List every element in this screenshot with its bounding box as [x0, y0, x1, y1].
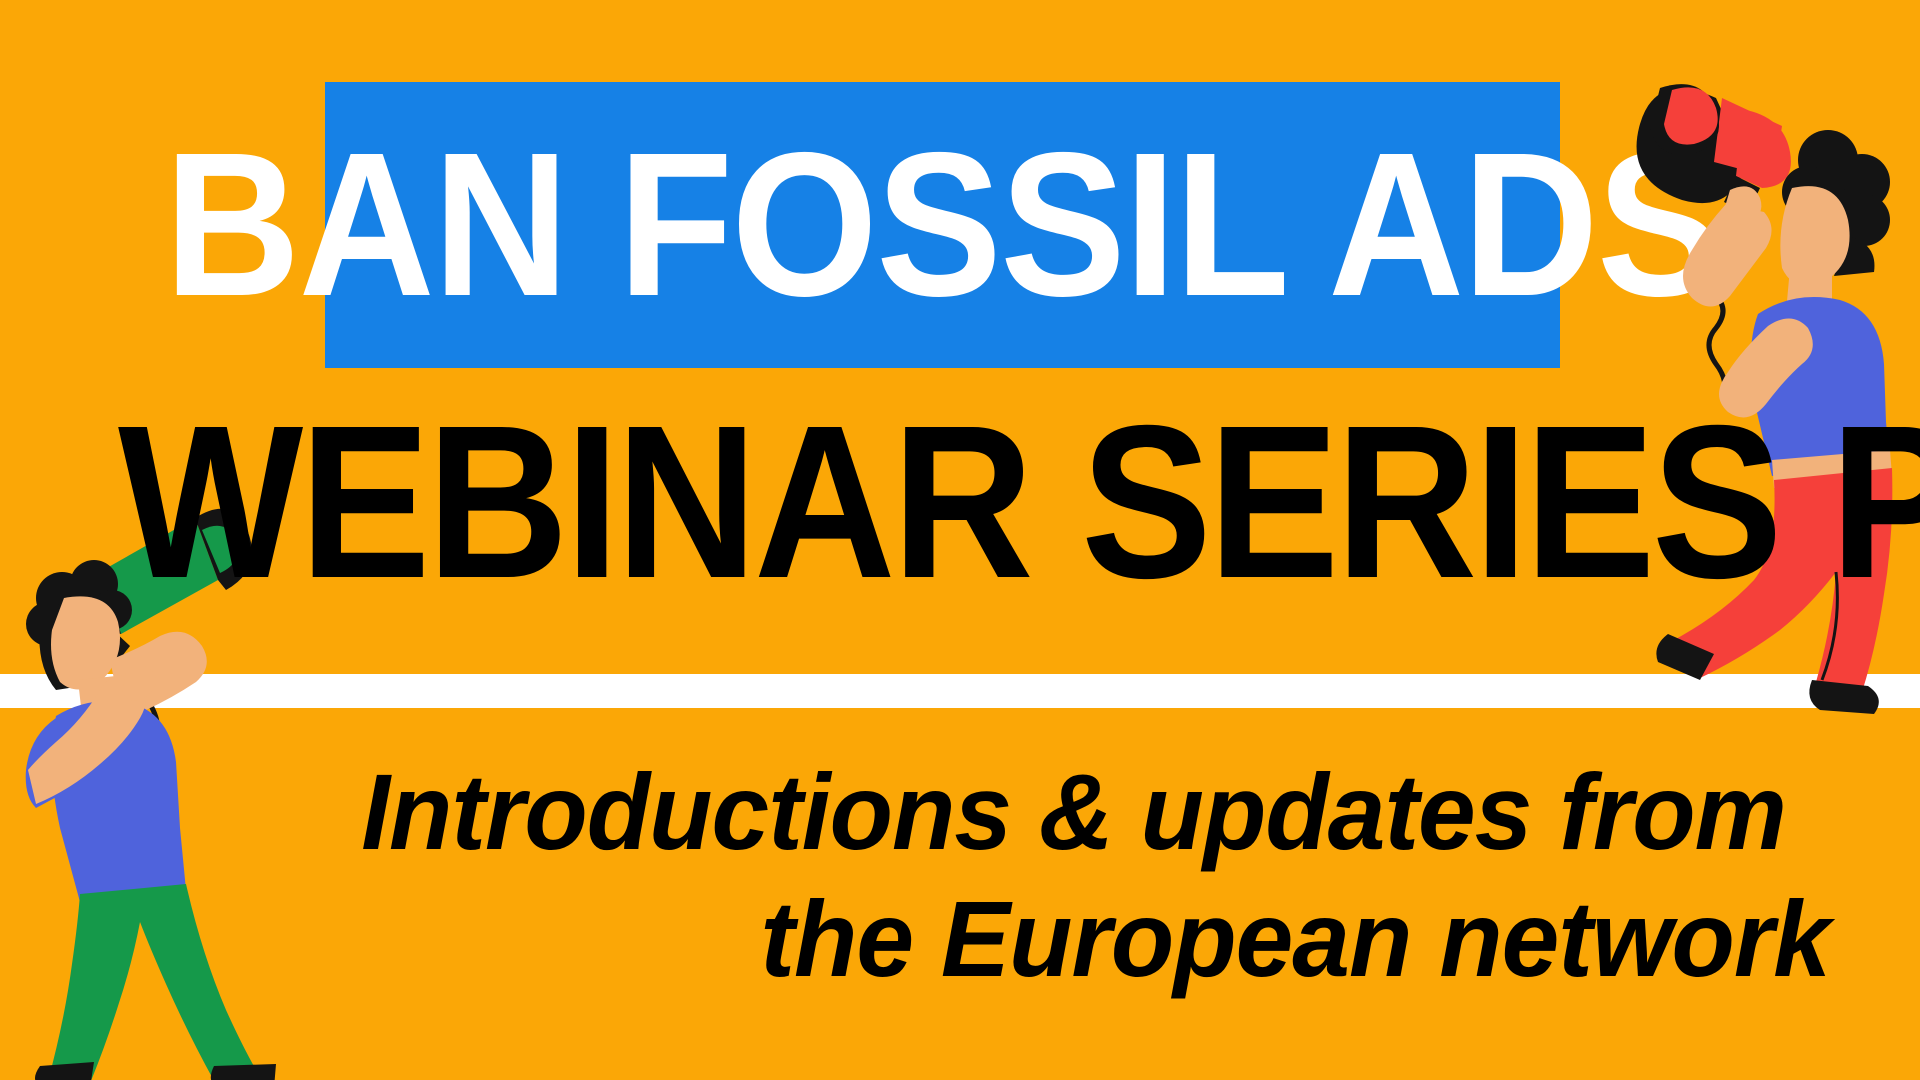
headline-secondary: WEBINAR SERIES PART I:: [118, 388, 1675, 618]
poster-canvas: BAN FOSSIL ADS: [0, 0, 1920, 1080]
subtitle-line-2: the European network: [361, 875, 1830, 1002]
subtitle-line-1: Introductions & updates from: [361, 748, 1830, 875]
headline-primary: BAN FOSSIL ADS: [374, 82, 1510, 368]
megaphone-red-icon: [1637, 84, 1791, 214]
subtitle-block: Introductions & updates from the Europea…: [361, 748, 1830, 1003]
pants: [46, 884, 262, 1080]
